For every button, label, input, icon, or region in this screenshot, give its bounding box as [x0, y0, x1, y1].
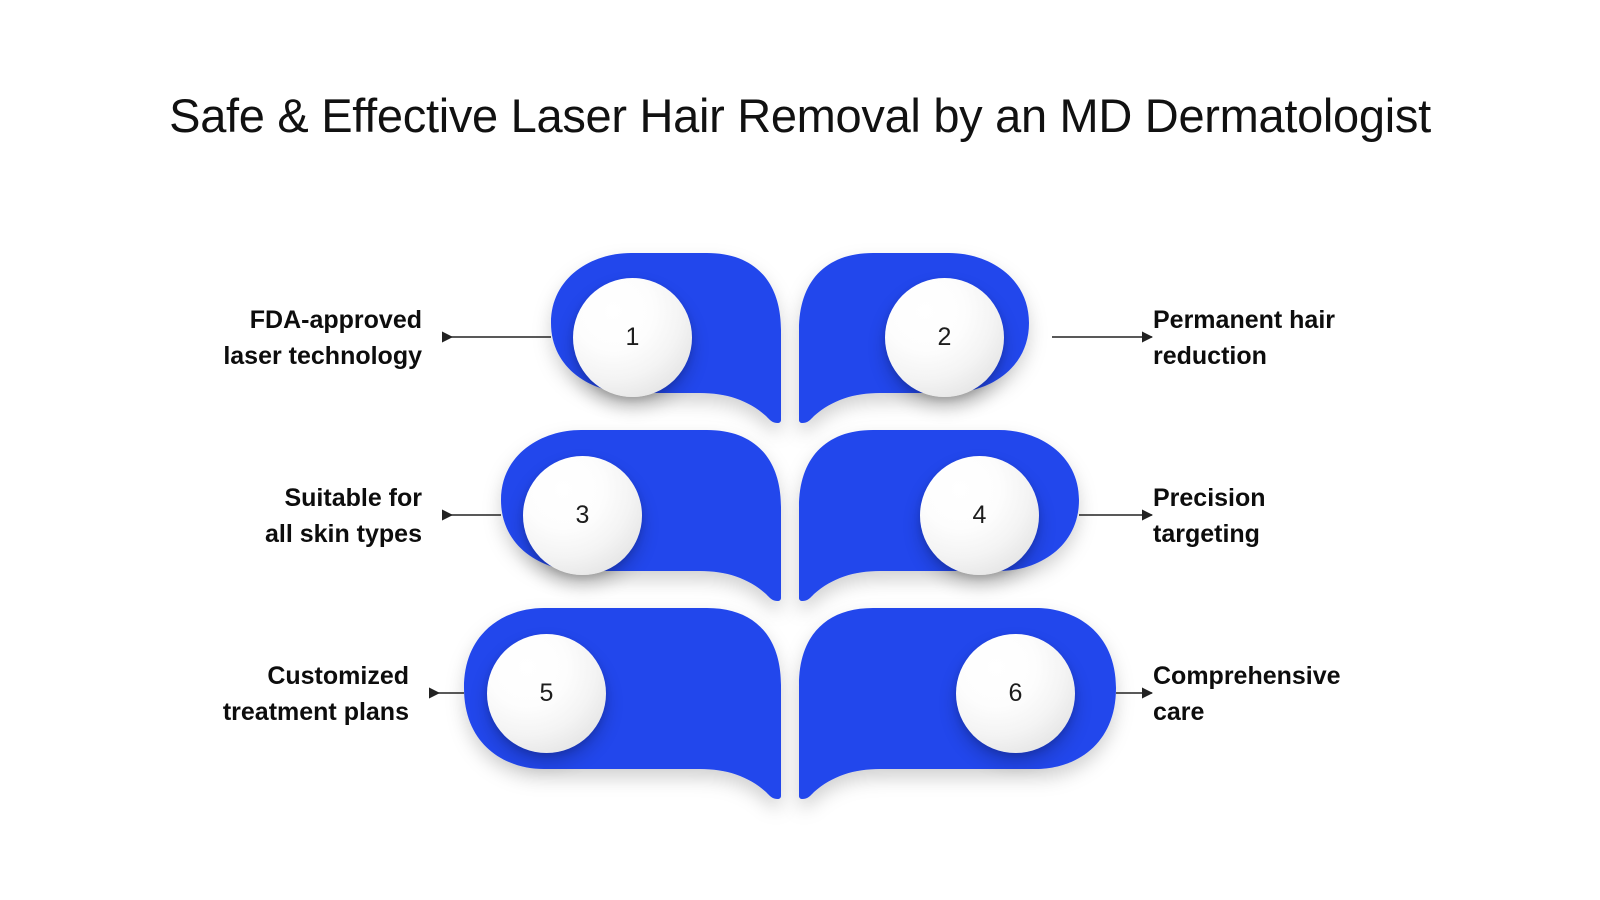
callout-label-5-line2: treatment plans	[109, 695, 409, 731]
callout-label-2: Permanent hair reduction	[1153, 303, 1453, 374]
callout-label-1-line1: FDA-approved	[122, 303, 422, 339]
number-label-4: 4	[973, 503, 987, 528]
callout-label-1-line2: laser technology	[122, 339, 422, 375]
callout-label-2-line1: Permanent hair	[1153, 303, 1453, 339]
number-label-5: 5	[540, 681, 554, 706]
infographic-canvas: Safe & Effective Laser Hair Removal by a…	[0, 0, 1600, 900]
callout-label-4-line1: Precision	[1153, 481, 1453, 517]
page-title: Safe & Effective Laser Hair Removal by a…	[0, 88, 1600, 143]
callout-label-6: Comprehensive care	[1153, 659, 1453, 730]
callout-label-5: Customized treatment plans	[109, 659, 409, 730]
number-badge-4[interactable]: 4	[920, 456, 1039, 575]
number-badge-2[interactable]: 2	[885, 278, 1004, 397]
number-badge-5[interactable]: 5	[487, 634, 606, 753]
callout-label-3-line1: Suitable for	[122, 481, 422, 517]
number-badge-3[interactable]: 3	[523, 456, 642, 575]
number-badge-6[interactable]: 6	[956, 634, 1075, 753]
callout-label-3: Suitable for all skin types	[122, 481, 422, 552]
callout-label-5-line1: Customized	[109, 659, 409, 695]
number-label-6: 6	[1009, 681, 1023, 706]
callout-label-6-line2: care	[1153, 695, 1453, 731]
number-label-1: 1	[626, 325, 640, 350]
callout-label-4-line2: targeting	[1153, 517, 1453, 553]
number-label-2: 2	[938, 325, 952, 350]
callout-label-1: FDA-approved laser technology	[122, 303, 422, 374]
number-badge-1[interactable]: 1	[573, 278, 692, 397]
callout-label-4: Precision targeting	[1153, 481, 1453, 552]
callout-label-2-line2: reduction	[1153, 339, 1453, 375]
number-label-3: 3	[576, 503, 590, 528]
callout-label-6-line1: Comprehensive	[1153, 659, 1453, 695]
callout-label-3-line2: all skin types	[122, 517, 422, 553]
